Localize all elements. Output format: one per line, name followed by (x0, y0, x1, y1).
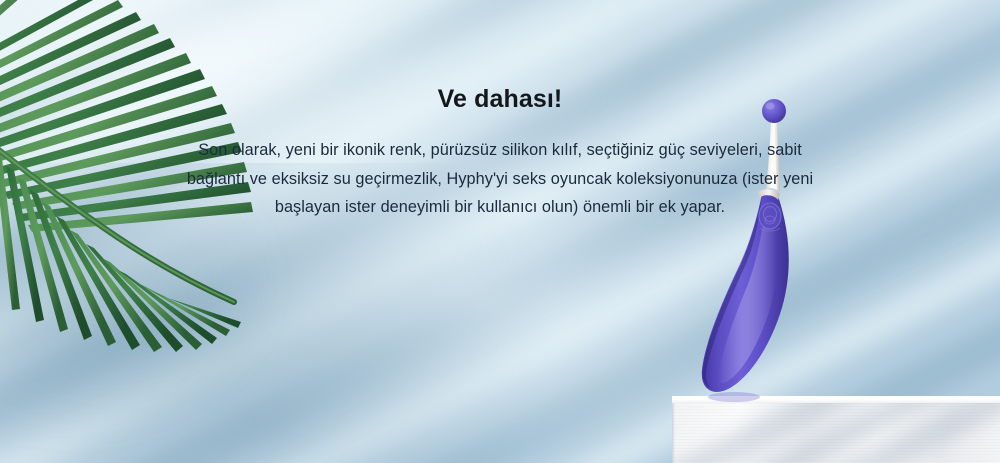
promo-banner: Ve dahası! Son olarak, yeni bir ikonik r… (0, 0, 1000, 463)
body-paragraph: Son olarak, yeni bir ikonik renk, pürüzs… (160, 136, 840, 222)
copy-block: Ve dahası! Son olarak, yeni bir ikonik r… (160, 84, 840, 222)
page-title: Ve dahası! (160, 84, 840, 114)
pedestal-left-edge (672, 403, 675, 463)
pedestal-front-face (672, 403, 1000, 463)
